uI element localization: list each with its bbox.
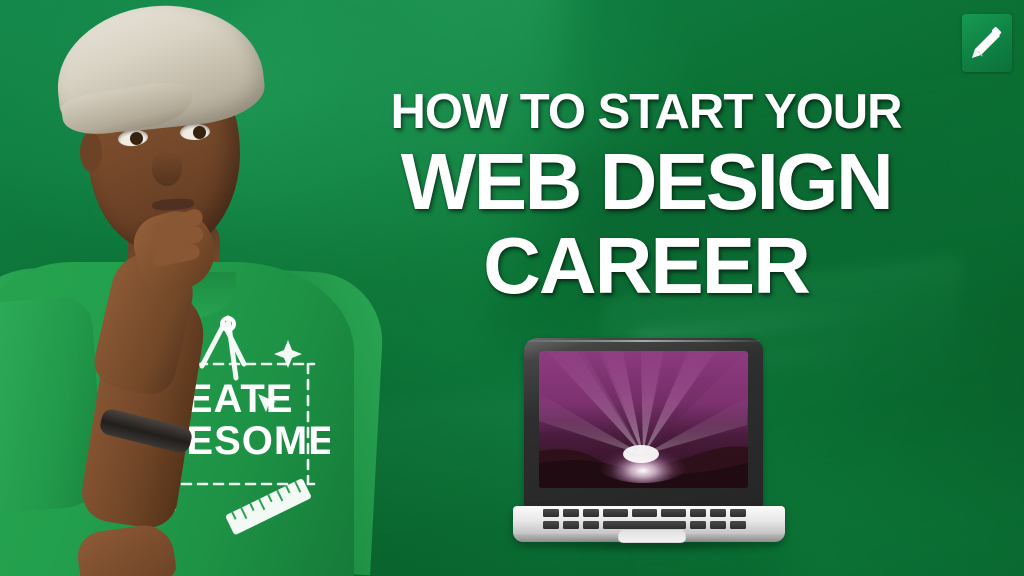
laptop-screen [539,351,748,488]
key [690,509,706,517]
key [543,509,559,517]
video-thumbnail: CREATE AWESOME [0,0,1024,576]
key [583,509,599,517]
spacebar-key [603,521,686,529]
key [730,521,746,529]
key [690,521,706,529]
key [603,509,628,517]
key [563,509,579,517]
aurora-wallpaper [539,351,748,488]
laptop-trackpad [618,530,686,543]
pencil-logo[interactable] [962,14,1012,72]
key [583,521,599,529]
key [661,509,686,517]
laptop-lid [524,338,763,508]
key [710,509,726,517]
key [563,521,579,529]
pencil-icon [968,22,1006,64]
key [632,509,657,517]
ear [80,132,102,172]
pupil-left [130,132,143,145]
title-line-3: CAREER [372,227,920,305]
nose [152,152,182,186]
laptop-illustration [505,338,795,548]
key [710,521,726,529]
presenter: CREATE AWESOME [0,0,420,576]
key [730,509,746,517]
title-block: HOW TO START YOUR WEB DESIGN CAREER [372,88,920,306]
title-line-1: HOW TO START YOUR [372,88,920,136]
pupil-right [193,126,206,139]
title-line-2: WEB DESIGN [372,143,920,221]
key [543,521,559,529]
